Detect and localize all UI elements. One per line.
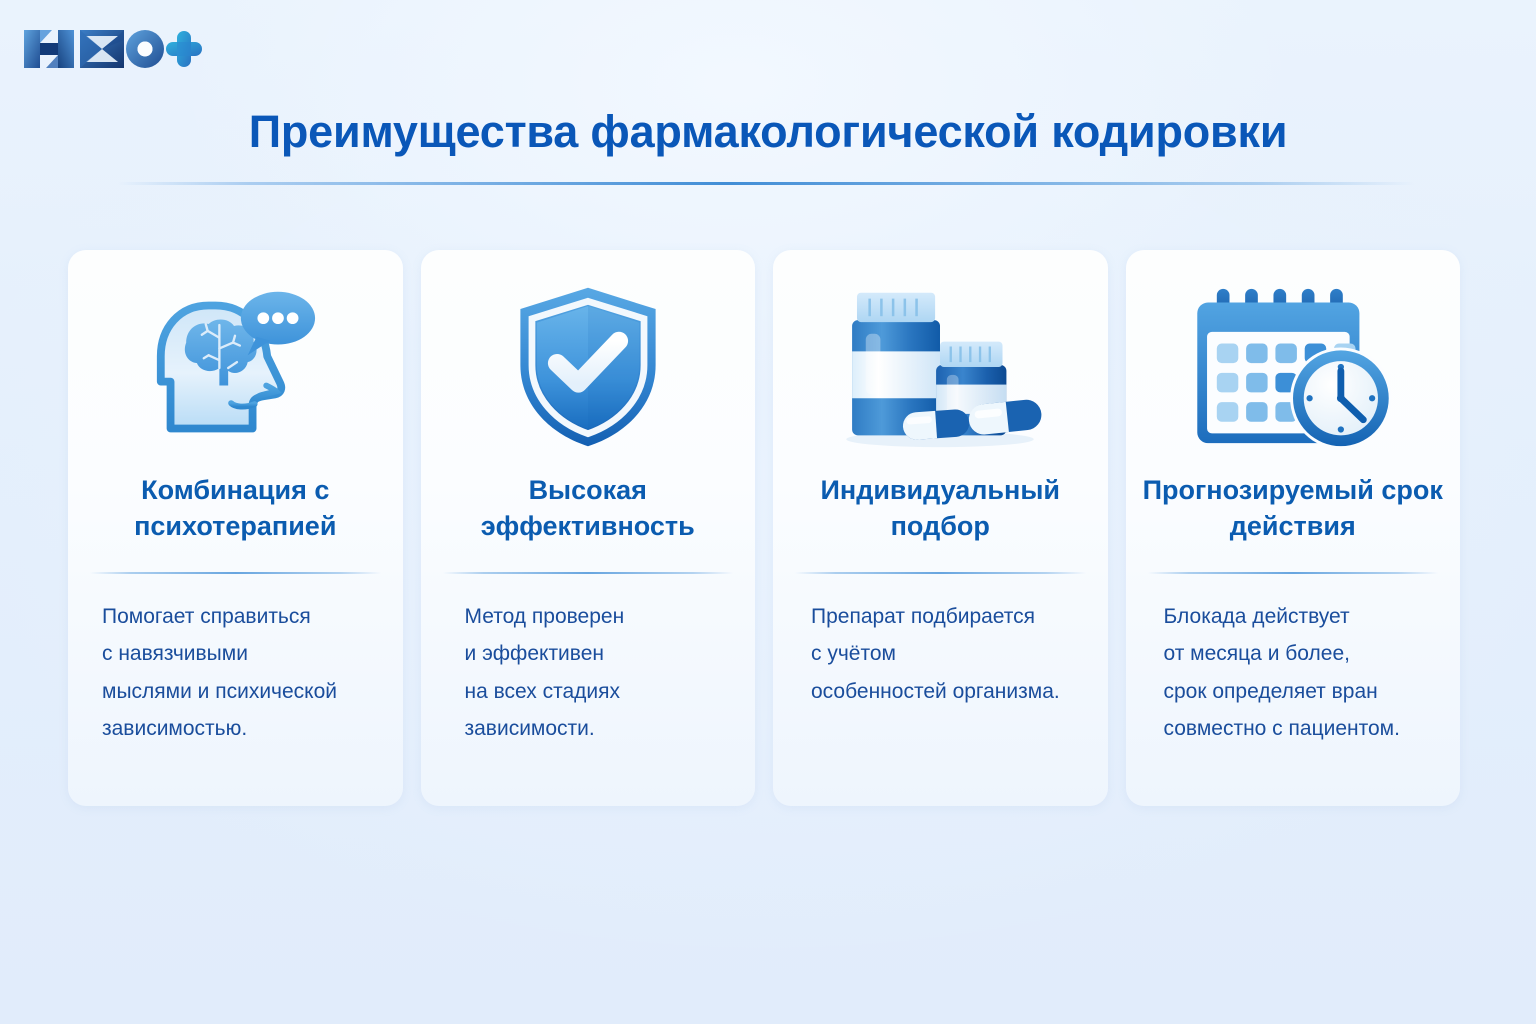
pill-bottles-capsules-icon — [773, 276, 1108, 458]
logo-plus-icon — [166, 31, 202, 67]
card-divider — [90, 572, 381, 574]
benefit-card-effectiveness[interactable]: Высокая эффективность Метод проверен и э… — [421, 250, 756, 806]
logo-letter-e — [80, 30, 124, 68]
calendar-clock-icon — [1126, 276, 1461, 458]
card-title: Индивидуальный подбор — [785, 472, 1096, 544]
card-body-text: Помогает справиться с навязчивыми мыслям… — [102, 598, 432, 748]
logo-letter-n — [24, 30, 74, 68]
shield-check-icon — [421, 276, 756, 458]
card-title: Комбинация с психотерапией — [80, 472, 391, 544]
page-title: Преимущества фармакологической кодировки — [0, 106, 1536, 158]
head-brain-speech-bubble-icon — [68, 276, 403, 458]
logo-letter-o — [126, 30, 164, 68]
benefit-card-combination[interactable]: Комбинация с психотерапией Помогает спра… — [68, 250, 403, 806]
card-divider — [795, 572, 1086, 574]
brand-logo[interactable] — [18, 22, 204, 76]
card-body-text: Метод проверен и эффективен на всех стад… — [465, 598, 795, 748]
benefit-card-duration[interactable]: Прогнозируемый срок действия Блокада дей… — [1126, 250, 1461, 806]
card-title: Высокая эффективность — [433, 472, 744, 544]
benefit-cards: Комбинация с психотерапией Помогает спра… — [68, 250, 1460, 806]
card-divider — [1148, 572, 1439, 574]
benefit-card-individual-selection[interactable]: Индивидуальный подбор Препарат подбирает… — [773, 250, 1108, 806]
card-body-text: Препарат подбирается с учётом особенност… — [811, 598, 1141, 710]
card-body-text: Блокада действует от месяца и более, сро… — [1164, 598, 1494, 748]
card-title: Прогнозируемый срок действия — [1138, 472, 1449, 544]
header-divider — [118, 182, 1414, 185]
card-divider — [443, 572, 734, 574]
